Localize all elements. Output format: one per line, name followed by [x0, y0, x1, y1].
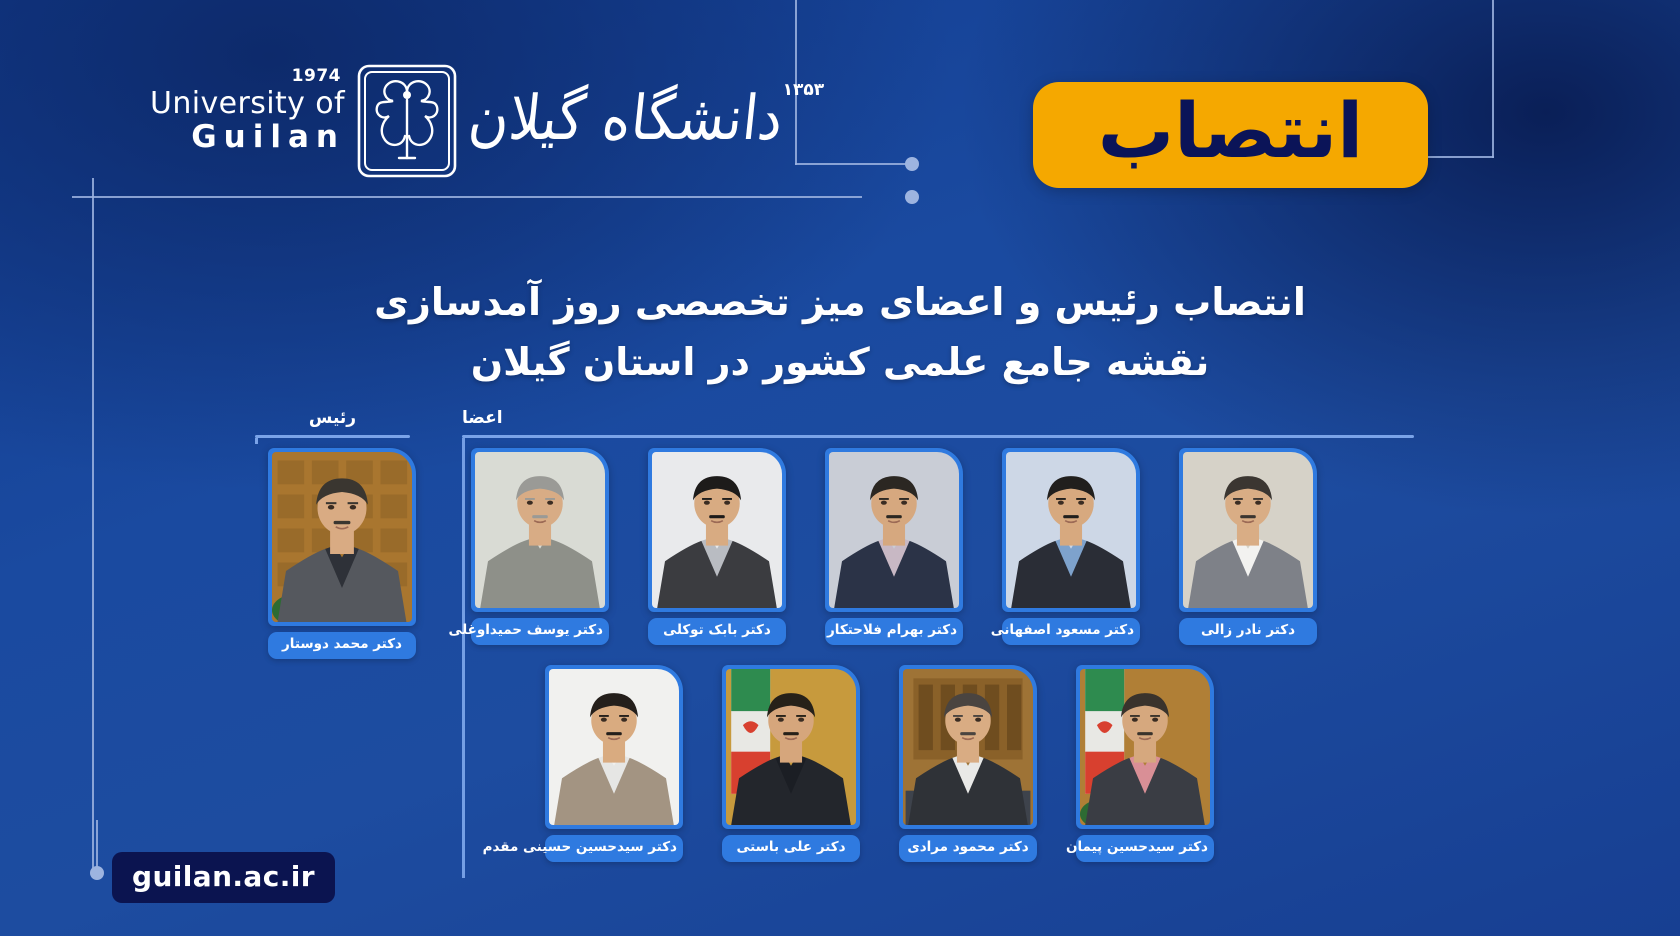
person-card[interactable]: دکتر محمود مرادی: [899, 665, 1037, 862]
portrait-flag-pink-shirt-icon: [1080, 669, 1210, 825]
brand-en-line1: University of: [150, 88, 345, 120]
person-card[interactable]: دکتر نادر زالی: [1179, 448, 1317, 645]
portrait-tan-jacket-icon: [549, 669, 679, 825]
person-card[interactable]: دکتر مسعود اصفهانی: [1002, 448, 1140, 645]
portrait-dark-suit-icon: [652, 452, 782, 608]
decorative-dot-url: [90, 866, 104, 880]
person-photo-frame: [471, 448, 609, 612]
website-url-label: guilan.ac.ir: [132, 860, 315, 893]
brand-en-line2: Guilan: [150, 121, 345, 154]
website-url-badge[interactable]: guilan.ac.ir: [112, 852, 335, 903]
chair-section-label: رئیس: [255, 408, 410, 428]
person-card[interactable]: دکتر محمد دوستار: [268, 448, 416, 659]
chair-rail-drop-line: [255, 438, 258, 444]
decorative-line-right-vertical: [1492, 0, 1494, 158]
brand-founding-year-fa: ۱۳۵۳: [783, 80, 825, 100]
chair-section-header: رئیس: [255, 408, 410, 438]
person-photo-frame: [1002, 448, 1140, 612]
person-photo-frame: [825, 448, 963, 612]
person-card[interactable]: دکتر سیدحسین پیمان: [1076, 665, 1214, 862]
decorative-dot-top: [905, 157, 919, 171]
person-name-plate: دکتر محمد دوستار: [268, 632, 416, 659]
person-name-plate: دکتر مسعود اصفهانی: [1002, 618, 1140, 645]
decorative-line-url-drop: [96, 820, 98, 872]
brand-english-text: 1974 University of Guilan: [150, 88, 345, 154]
person-name-plate: دکتر یوسف حمیداوغلی: [471, 618, 609, 645]
portrait-lectern-icon: [903, 669, 1033, 825]
portrait-grey-shirt-icon: [475, 452, 605, 608]
person-name-plate: دکتر بهرام فلاحتکار: [825, 618, 963, 645]
brand-farsi-name: دانشگاه گیلان: [466, 88, 786, 150]
members-section-rail: [462, 435, 1414, 438]
person-photo-frame: [268, 448, 416, 626]
person-photo-frame: [545, 665, 683, 829]
portrait-blue-shirt-icon: [1006, 452, 1136, 608]
portrait-podium-wood-icon: [272, 452, 412, 622]
person-photo-frame: [1076, 665, 1214, 829]
person-card[interactable]: دکتر یوسف حمیداوغلی: [471, 448, 609, 645]
appointment-badge-label: انتصاب: [1098, 93, 1363, 169]
person-name-plate: دکتر بابک توکلی: [648, 618, 786, 645]
portrait-navy-suit-icon: [829, 452, 959, 608]
page-title: انتصاب رئیس و اعضای میز تخصصی روز آمدساز…: [0, 272, 1680, 392]
appointment-badge: انتصاب: [1033, 82, 1428, 188]
person-card[interactable]: دکتر علی باستی: [722, 665, 860, 862]
person-card[interactable]: دکتر بهرام فلاحتکار: [825, 448, 963, 645]
page-title-line2: نقشه جامع علمی کشور در استان گیلان: [0, 332, 1680, 392]
brand-farsi-text: ۱۳۵۳ دانشگاه گیلان: [469, 80, 830, 162]
person-name-plate: دکتر سیدحسین حسینی مقدم: [545, 835, 683, 862]
person-name-plate: دکتر نادر زالی: [1179, 618, 1317, 645]
portrait-grey-jacket-icon: [1183, 452, 1313, 608]
person-photo-frame: [648, 448, 786, 612]
person-name-plate: دکتر علی باستی: [722, 835, 860, 862]
guilan-university-emblem-icon: [355, 62, 459, 180]
person-name-plate: دکتر سیدحسین پیمان: [1076, 835, 1214, 862]
chair-section-rail: [255, 435, 410, 438]
decorative-line-left-horizontal: [72, 196, 862, 198]
members-section-label: اعضا: [462, 408, 1414, 428]
members-rail-drop-line: [462, 438, 465, 878]
person-photo-frame: [722, 665, 860, 829]
portrait-flag-backdrop-icon: [726, 669, 856, 825]
brand-founding-year-en: 1974: [292, 68, 341, 86]
page-title-line1: انتصاب رئیس و اعضای میز تخصصی روز آمدساز…: [0, 272, 1680, 332]
person-photo-frame: [1179, 448, 1317, 612]
person-photo-frame: [899, 665, 1037, 829]
person-card[interactable]: دکتر سیدحسین حسینی مقدم: [545, 665, 683, 862]
members-section-header: اعضا: [462, 408, 1414, 438]
decorative-dot-middle: [905, 190, 919, 204]
person-name-plate: دکتر محمود مرادی: [899, 835, 1037, 862]
person-card[interactable]: دکتر بابک توکلی: [648, 448, 786, 645]
university-logo-lockup: 1974 University of Guilan ۱۳۵۳ دانشگاه گ…: [150, 62, 830, 180]
